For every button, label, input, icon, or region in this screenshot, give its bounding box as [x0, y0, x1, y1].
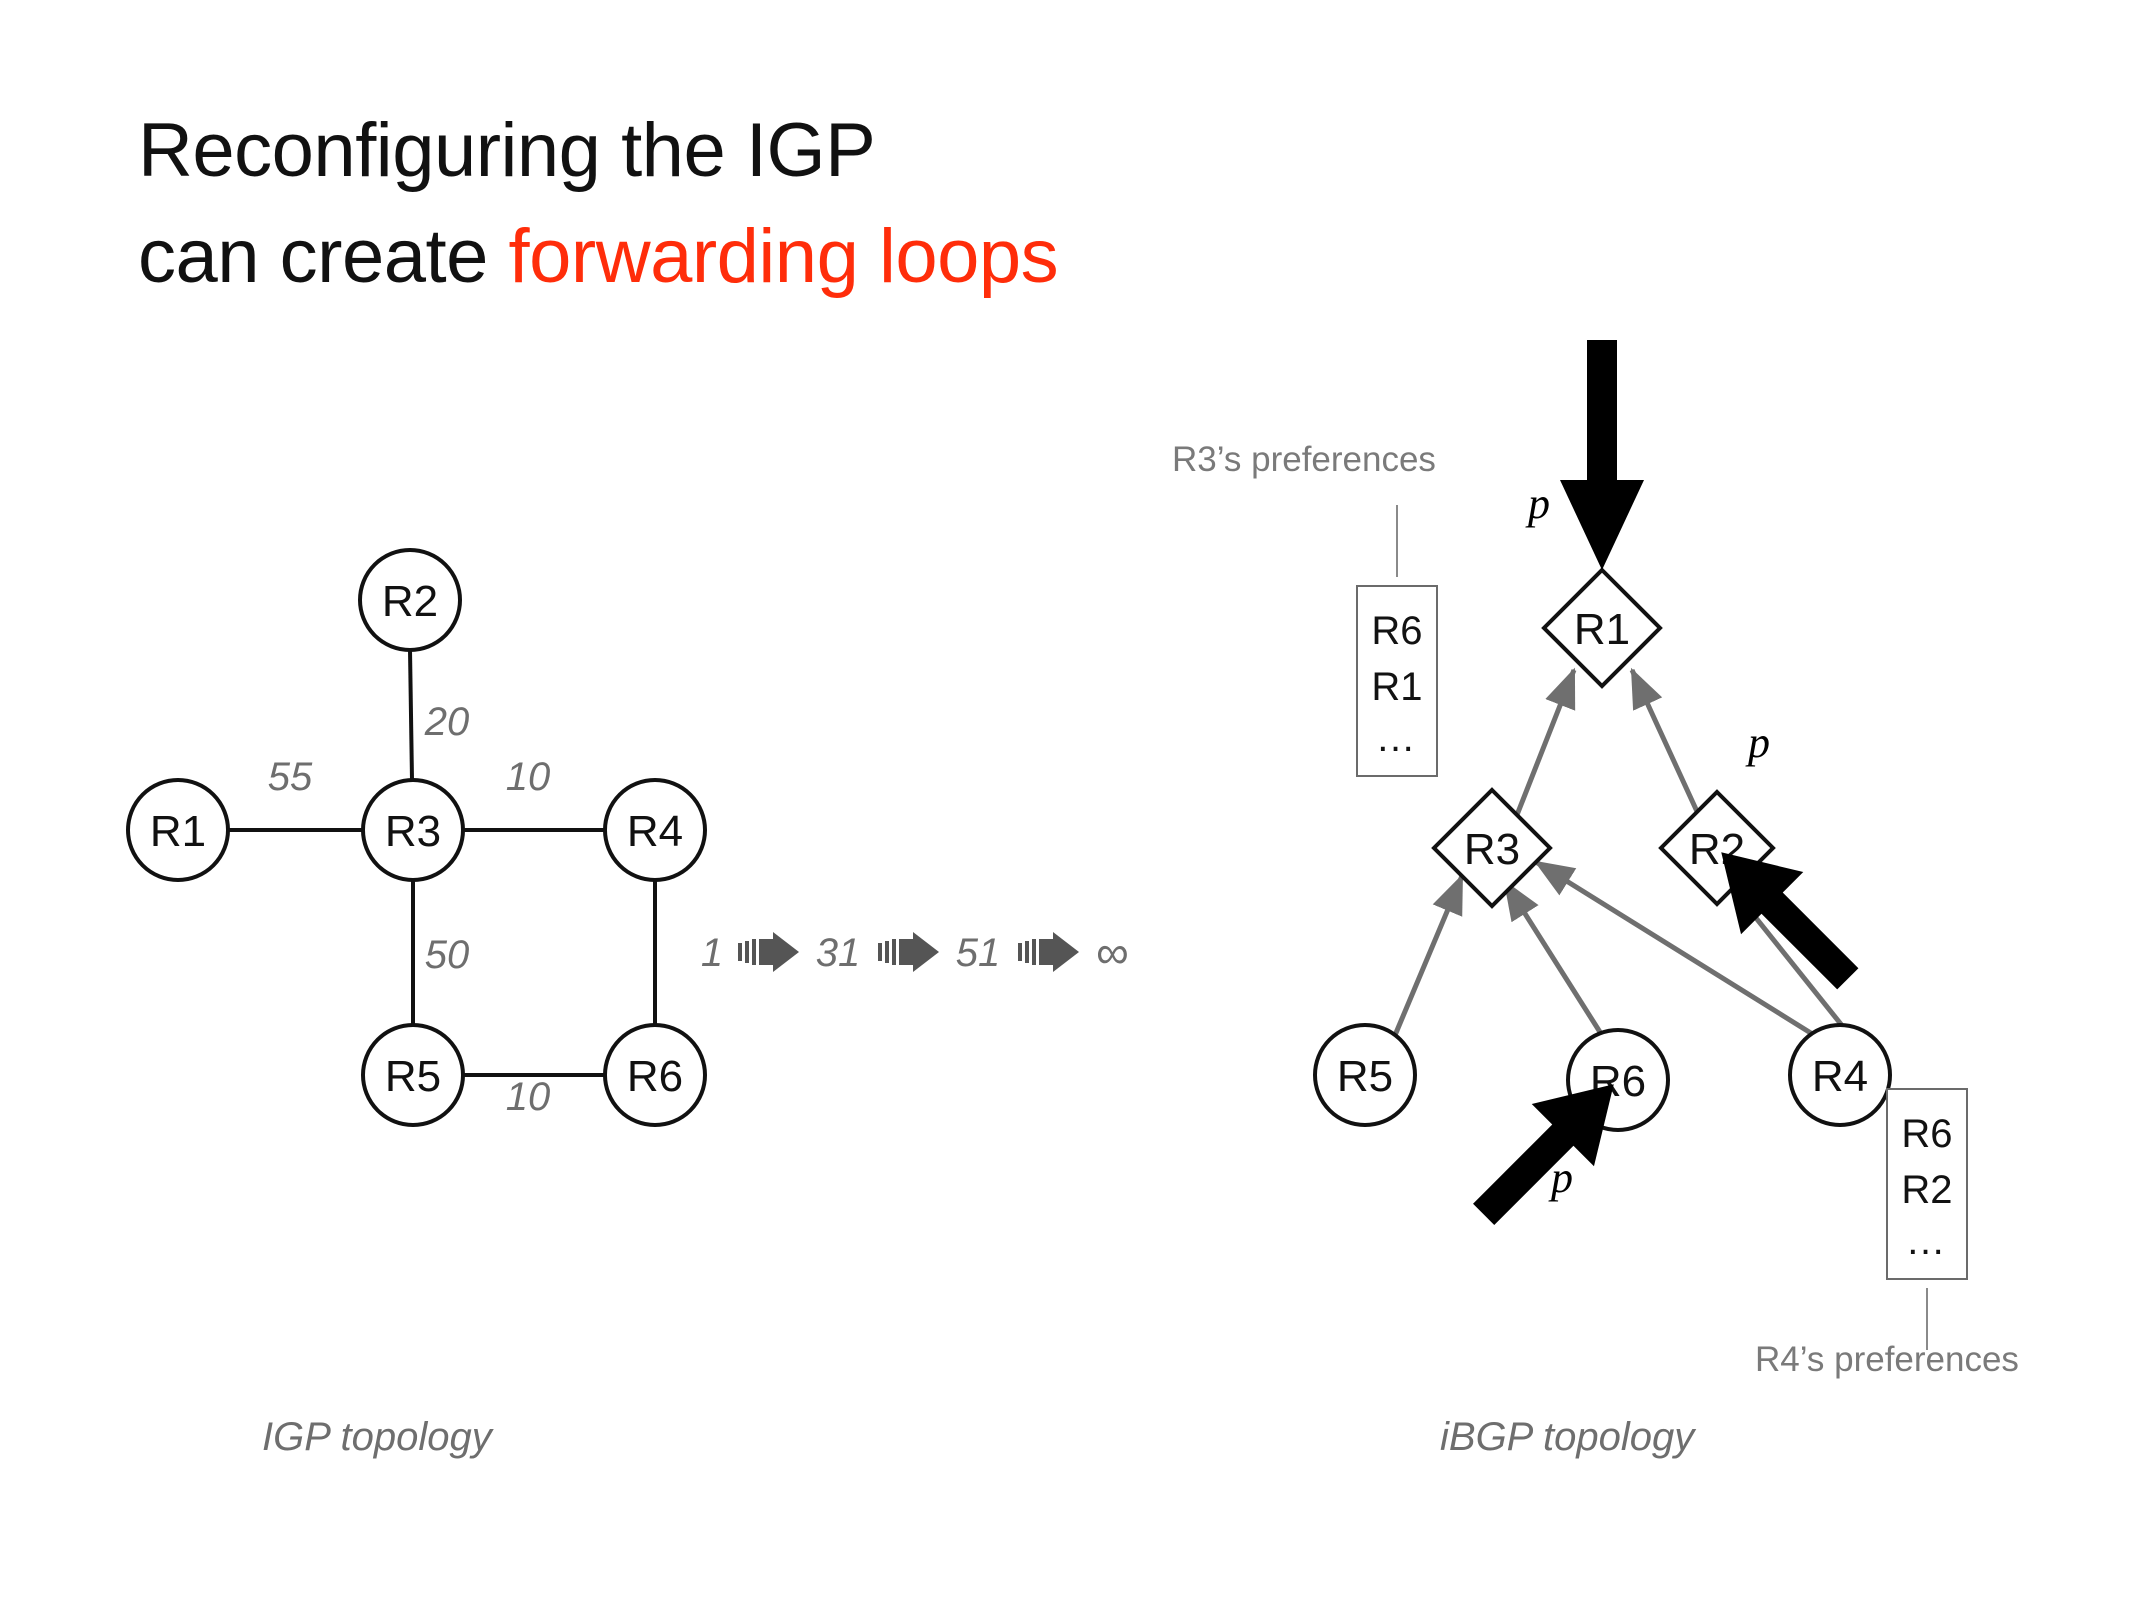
- igp-node-r3-label: R3: [385, 807, 441, 856]
- prefix-label-r6: p: [1551, 1152, 1573, 1203]
- page-title: Reconfiguring the IGP can create forward…: [138, 98, 1538, 310]
- igp-weight-r1-r3: 55: [268, 755, 313, 799]
- ibgp-topology-panel: R1 R3 R2 R5 R6 R4: [1060, 380, 2134, 1180]
- igp-edge-r2-r3: [410, 650, 412, 780]
- igp-node-r4[interactable]: R4: [605, 780, 705, 880]
- weight-step-1: 31: [816, 931, 861, 975]
- igp-node-r3[interactable]: R3: [363, 780, 463, 880]
- r4-preference-entry-0: R6: [1901, 1106, 1952, 1162]
- r4-preferences-title: R4’s preferences: [1755, 1340, 2019, 1380]
- title-line-2-plain: can create: [138, 214, 509, 299]
- igp-node-r1[interactable]: R1: [128, 780, 228, 880]
- ibgp-node-r1[interactable]: R1: [1544, 570, 1660, 686]
- igp-node-r2-label: R2: [382, 577, 438, 626]
- ibgp-session-r5-r3: [1393, 876, 1462, 1040]
- ibgp-topology-caption: iBGP topology: [1440, 1415, 1694, 1460]
- prefix-label-r2: p: [1748, 717, 1770, 768]
- igp-weight-r5-r6: 10: [506, 1075, 551, 1119]
- r3-preference-entry-1: R1: [1371, 659, 1422, 715]
- weight-step-2: 51: [956, 931, 1001, 975]
- r4-preferences-box: R6 R2 …: [1886, 1088, 1968, 1280]
- ibgp-session-r2-r1: [1632, 670, 1700, 818]
- igp-topology-graph: 55 20 10 50 10 R1 R2 R3 R4: [0, 380, 1060, 1180]
- r3-preference-entry-0: R6: [1371, 603, 1422, 659]
- title-line-2-accent: forwarding loops: [509, 214, 1059, 299]
- igp-node-r5-label: R5: [385, 1052, 441, 1101]
- ibgp-node-r3-label: R3: [1464, 825, 1520, 874]
- r3-preferences-leader-line: [1396, 505, 1398, 577]
- prefix-label-r1: p: [1528, 478, 1550, 529]
- ibgp-node-r4[interactable]: R4: [1790, 1025, 1890, 1125]
- title-line-2: can create forwarding loops: [138, 204, 1538, 310]
- ibgp-node-r5[interactable]: R5: [1315, 1025, 1415, 1125]
- ibgp-session-r6-r3: [1505, 882, 1605, 1040]
- igp-weight-r2-r3: 20: [424, 700, 470, 744]
- ibgp-node-r4-label: R4: [1812, 1052, 1868, 1101]
- r3-preferences-title: R3’s preferences: [1172, 440, 1436, 480]
- igp-topology-panel: 55 20 10 50 10 R1 R2 R3 R4: [0, 380, 1060, 1180]
- ibgp-topology-graph: R1 R3 R2 R5 R6 R4: [1060, 380, 2134, 1180]
- title-line-1: Reconfiguring the IGP: [138, 98, 1538, 204]
- igp-weight-r3-r4: 10: [506, 755, 551, 799]
- prefix-injection-arrow-r1-icon: [1560, 340, 1644, 570]
- r3-preference-ellipsis: …: [1376, 715, 1419, 761]
- igp-node-r2[interactable]: R2: [360, 550, 460, 650]
- igp-node-r5[interactable]: R5: [363, 1025, 463, 1125]
- igp-node-r6[interactable]: R6: [605, 1025, 705, 1125]
- ibgp-node-r1-label: R1: [1574, 605, 1630, 654]
- igp-weight-r3-r5: 50: [425, 933, 470, 977]
- igp-node-r1-label: R1: [150, 807, 206, 856]
- ibgp-node-r3[interactable]: R3: [1434, 790, 1550, 906]
- igp-node-r4-label: R4: [627, 807, 683, 856]
- motion-arrow-icon: [738, 932, 799, 972]
- weight-step-0: 1: [701, 931, 723, 975]
- r4-preference-ellipsis: …: [1906, 1218, 1949, 1264]
- ibgp-session-r3-r1: [1515, 670, 1574, 820]
- ibgp-node-r5-label: R5: [1337, 1052, 1393, 1101]
- r4-preference-entry-1: R2: [1901, 1162, 1952, 1218]
- igp-topology-caption: IGP topology: [262, 1415, 492, 1460]
- r3-preferences-box: R6 R1 …: [1356, 585, 1438, 777]
- igp-node-r6-label: R6: [627, 1052, 683, 1101]
- motion-arrow-icon: [878, 932, 939, 972]
